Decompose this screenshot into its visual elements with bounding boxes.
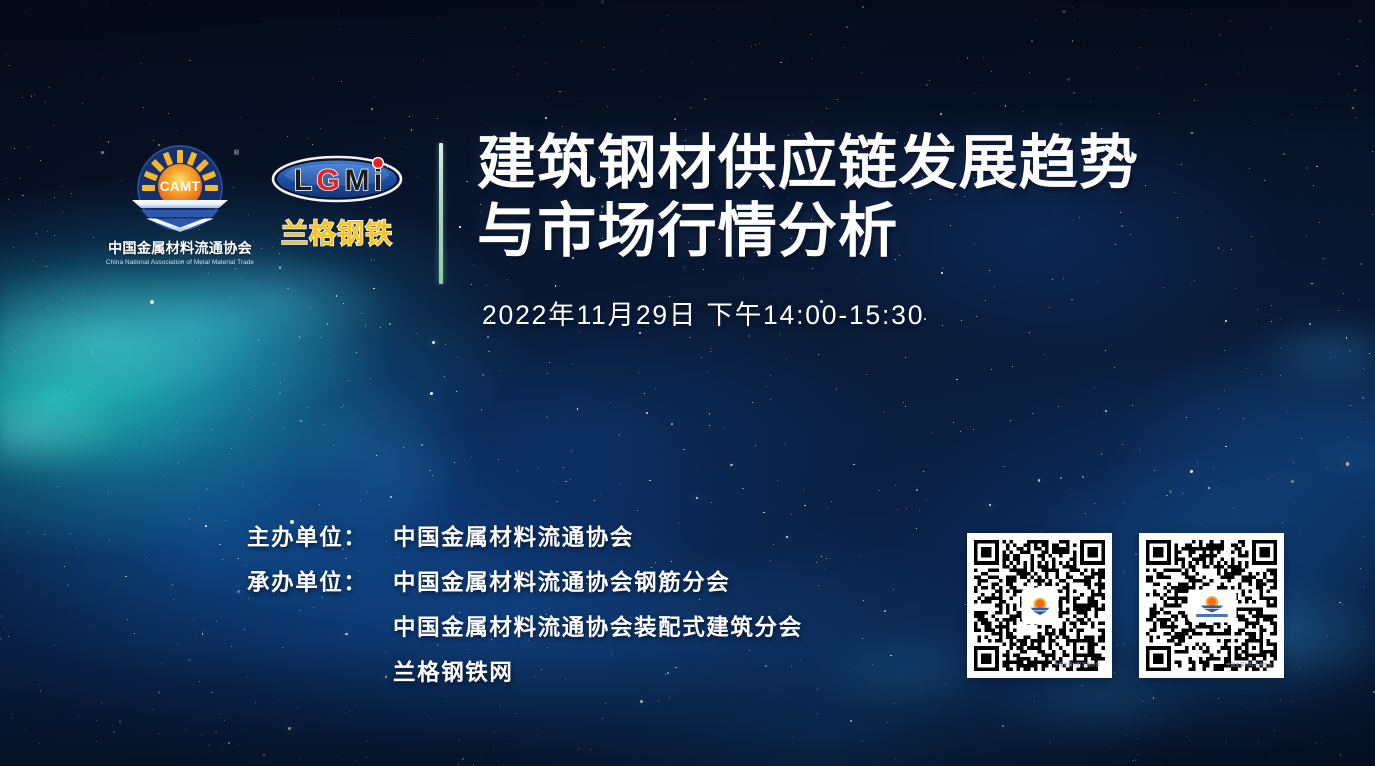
organizer-row: 承办单位：中国金属材料流通协会钢筋分会 — [247, 565, 803, 610]
organizer-value: 中国金属材料流通协会装配式建筑分会 — [393, 610, 803, 642]
organizer-label: 承办单位： — [247, 565, 393, 597]
organizer-value: 中国金属材料流通协会 — [393, 520, 634, 552]
header-divider — [439, 143, 443, 284]
organizer-row: 承办单位：中国金属材料流通协会装配式建筑分会 — [247, 610, 803, 655]
organizer-list: 主办单位：中国金属材料流通协会承办单位：中国金属材料流通协会钢筋分会承办单位：中… — [247, 520, 803, 700]
organizer-row: 主办单位：中国金属材料流通协会 — [247, 520, 803, 565]
qr-tag-1: 中国金属材料流通协会 — [1054, 662, 1100, 668]
svg-text:M: M — [345, 164, 370, 197]
qr-canvas-1: 中国金属材料流通协会 — [974, 540, 1105, 671]
logo-lgmi: L G M i 兰格钢铁 — [265, 128, 410, 254]
poster-canvas: CAMT ® 中国金属材料流通协会 China National Associa… — [0, 0, 1375, 766]
organizer-value: 中国金属材料流通协会钢筋分会 — [393, 565, 730, 597]
qr-canvas-2: 中国金属材料流通协会 — [1146, 540, 1277, 671]
poster-title-line-2: 与市场行情分析 — [477, 198, 1139, 266]
svg-text:G: G — [316, 164, 339, 197]
lgmi-emblem-icon: L G M i — [270, 150, 405, 206]
organizer-value: 兰格钢铁网 — [393, 655, 514, 687]
qr-code-camt-wechat[interactable]: 中国金属材料流通协会 — [967, 533, 1112, 678]
lgmi-name-cn-wrapper: 兰格钢铁 — [265, 210, 410, 254]
svg-text:L: L — [294, 164, 312, 197]
qr-code-association-service[interactable]: 中国金属材料流通协会 — [1139, 533, 1284, 678]
logo-camt: CAMT ® 中国金属材料流通协会 China National Associa… — [95, 128, 265, 266]
qr-tag-2: 中国金属材料流通协会 — [1226, 662, 1272, 668]
camt-full-icon — [1189, 591, 1235, 621]
camt-emblem-icon: CAMT ® — [126, 144, 234, 236]
organizer-row: 承办单位：兰格钢铁网 — [247, 655, 803, 700]
organizer-label: 主办单位： — [247, 520, 393, 552]
poster-header: CAMT ® 中国金属材料流通协会 China National Associa… — [95, 128, 1139, 332]
registered-trademark-icon: ® — [234, 150, 239, 157]
svg-text:CAMT: CAMT — [160, 179, 201, 194]
poster-title-line-1: 建筑钢材供应链发展趋势 — [477, 130, 1139, 198]
lgmi-name-cn: 兰格钢铁 — [281, 219, 393, 250]
poster-datetime: 2022年11月29日 下午14:00-15:30 — [482, 293, 1139, 332]
camt-name-en: China National Association of Metal Mate… — [95, 259, 265, 266]
camt-name-cn: 中国金属材料流通协会 — [95, 238, 265, 258]
title-block: 建筑钢材供应链发展趋势 与市场行情分析 2022年11月29日 下午14:00-… — [477, 128, 1139, 332]
camt-sun-icon — [1023, 589, 1057, 623]
